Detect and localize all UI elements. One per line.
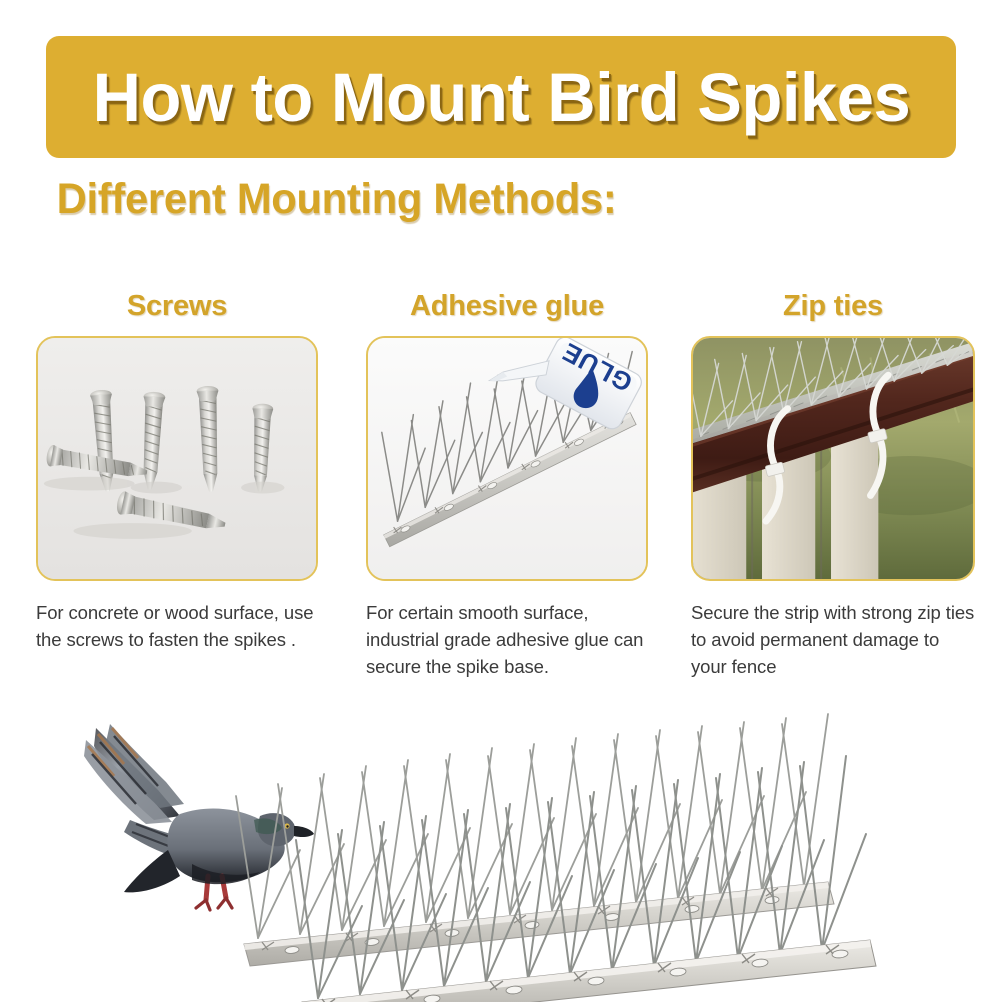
method-caption-adhesive-glue: For certain smooth surface, industrial g…	[366, 599, 648, 681]
adhesive-glue-photo: GLUE	[366, 336, 648, 581]
method-column-zip-ties: Zip ties	[691, 292, 975, 681]
method-column-adhesive-glue: Adhesive glue	[366, 292, 648, 681]
method-heading-adhesive-glue: Adhesive glue	[366, 292, 648, 326]
screws-illustration	[38, 338, 316, 579]
infographic-page: How to Mount Bird Spikes Different Mount…	[0, 0, 1002, 1002]
method-caption-screws: For concrete or wood surface, use the sc…	[36, 599, 318, 653]
pigeon-and-spike-strips-photo	[0, 700, 1002, 1002]
zip-ties-photo	[691, 336, 975, 581]
screws-photo	[36, 336, 318, 581]
method-caption-zip-ties: Secure the strip with strong zip ties to…	[691, 599, 975, 681]
section-subtitle: Different Mounting Methods:	[57, 178, 617, 221]
zip-ties-illustration	[693, 338, 973, 579]
method-column-screws: Screws	[36, 292, 318, 653]
page-title: How to Mount Bird Spikes	[92, 63, 910, 132]
hero-illustration	[0, 700, 1002, 1002]
title-banner: How to Mount Bird Spikes	[46, 36, 956, 158]
method-heading-zip-ties: Zip ties	[691, 292, 975, 326]
adhesive-glue-illustration: GLUE	[368, 338, 646, 579]
method-heading-screws: Screws	[36, 292, 318, 326]
